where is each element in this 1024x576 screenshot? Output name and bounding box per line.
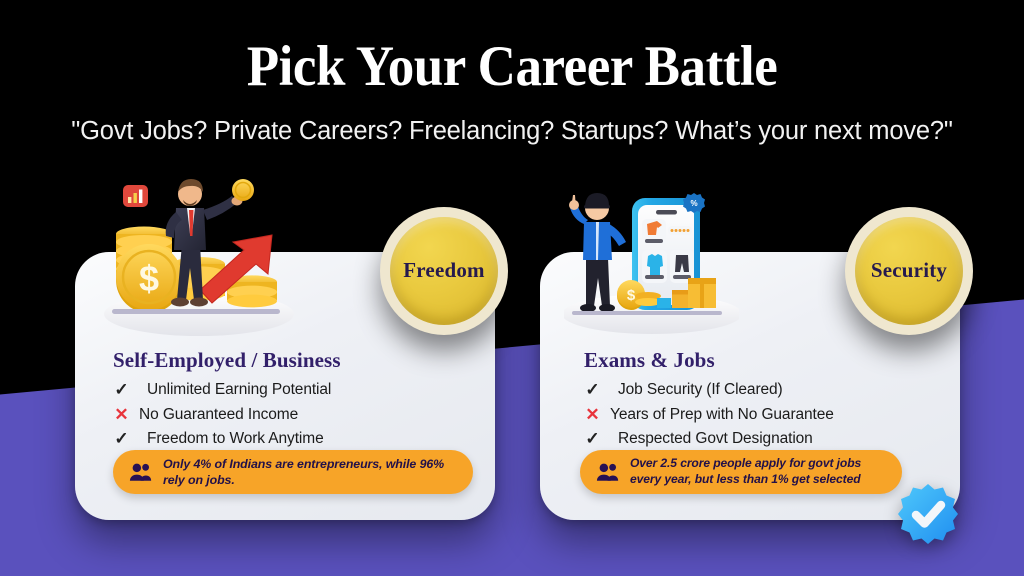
bullet-list: ✓ Unlimited Earning Potential ✕ No Guara… <box>113 378 471 452</box>
infographic-stage: Pick Your Career Battle "Govt Jobs? Priv… <box>0 0 1024 576</box>
svg-text:$: $ <box>139 258 159 299</box>
badge-inner: Security <box>855 217 963 325</box>
card-body: Self-Employed / Business ✓ Unlimited Ear… <box>113 348 471 452</box>
page-title: Pick Your Career Battle <box>36 0 988 95</box>
stat-text: Only 4% of Indians are entrepreneurs, wh… <box>163 456 453 489</box>
check-icon: ✓ <box>113 427 130 452</box>
list-item: ✓ Unlimited Earning Potential <box>113 378 471 403</box>
stat-banner: Only 4% of Indians are entrepreneurs, wh… <box>113 450 473 494</box>
list-item-label: Unlimited Earning Potential <box>139 378 331 402</box>
cross-icon: ✕ <box>584 403 601 428</box>
check-icon: ✓ <box>584 378 601 403</box>
list-item-label: Respected Govt Designation <box>610 427 813 451</box>
stat-banner: Over 2.5 crore people apply for govt job… <box>580 450 902 494</box>
illustration-businessman-with-gold-coins: $ <box>104 172 294 337</box>
badge-security[interactable]: Security <box>845 207 973 335</box>
illustration-person-with-smartphone-shopping: % <box>564 186 739 338</box>
badge-label: Freedom <box>403 258 484 283</box>
list-item-label: No Guaranteed Income <box>139 403 298 427</box>
list-item: ✓ Job Security (If Cleared) <box>584 378 936 403</box>
card-body: Exams & Jobs ✓ Job Security (If Cleared)… <box>584 348 936 452</box>
svg-text:%: % <box>690 199 697 208</box>
list-item: ✕ Years of Prep with No Guarantee <box>584 403 936 428</box>
cross-icon: ✕ <box>113 403 130 428</box>
list-item: ✓ Freedom to Work Anytime <box>113 427 471 452</box>
card-heading: Exams & Jobs <box>584 348 936 373</box>
check-icon: ✓ <box>113 378 130 403</box>
badge-label: Security <box>871 258 947 283</box>
page-subtitle: "Govt Jobs? Private Careers? Freelancing… <box>0 95 1024 146</box>
list-item: ✕ No Guaranteed Income <box>113 403 471 428</box>
svg-text:$: $ <box>627 287 636 304</box>
people-icon <box>129 462 153 482</box>
badge-freedom[interactable]: Freedom <box>380 207 508 335</box>
card-heading: Self-Employed / Business <box>113 348 471 373</box>
people-icon <box>596 462 620 482</box>
stat-text: Over 2.5 crore people apply for govt job… <box>630 456 882 488</box>
list-item-label: Freedom to Work Anytime <box>139 427 324 451</box>
check-icon: ✓ <box>584 427 601 452</box>
verified-check-badge-icon <box>896 482 960 546</box>
list-item-label: Job Security (If Cleared) <box>610 378 783 402</box>
badge-inner: Freedom <box>390 217 498 325</box>
list-item-label: Years of Prep with No Guarantee <box>610 403 834 427</box>
bullet-list: ✓ Job Security (If Cleared) ✕ Years of P… <box>584 378 936 452</box>
list-item: ✓ Respected Govt Designation <box>584 427 936 452</box>
header: Pick Your Career Battle "Govt Jobs? Priv… <box>0 0 1024 146</box>
